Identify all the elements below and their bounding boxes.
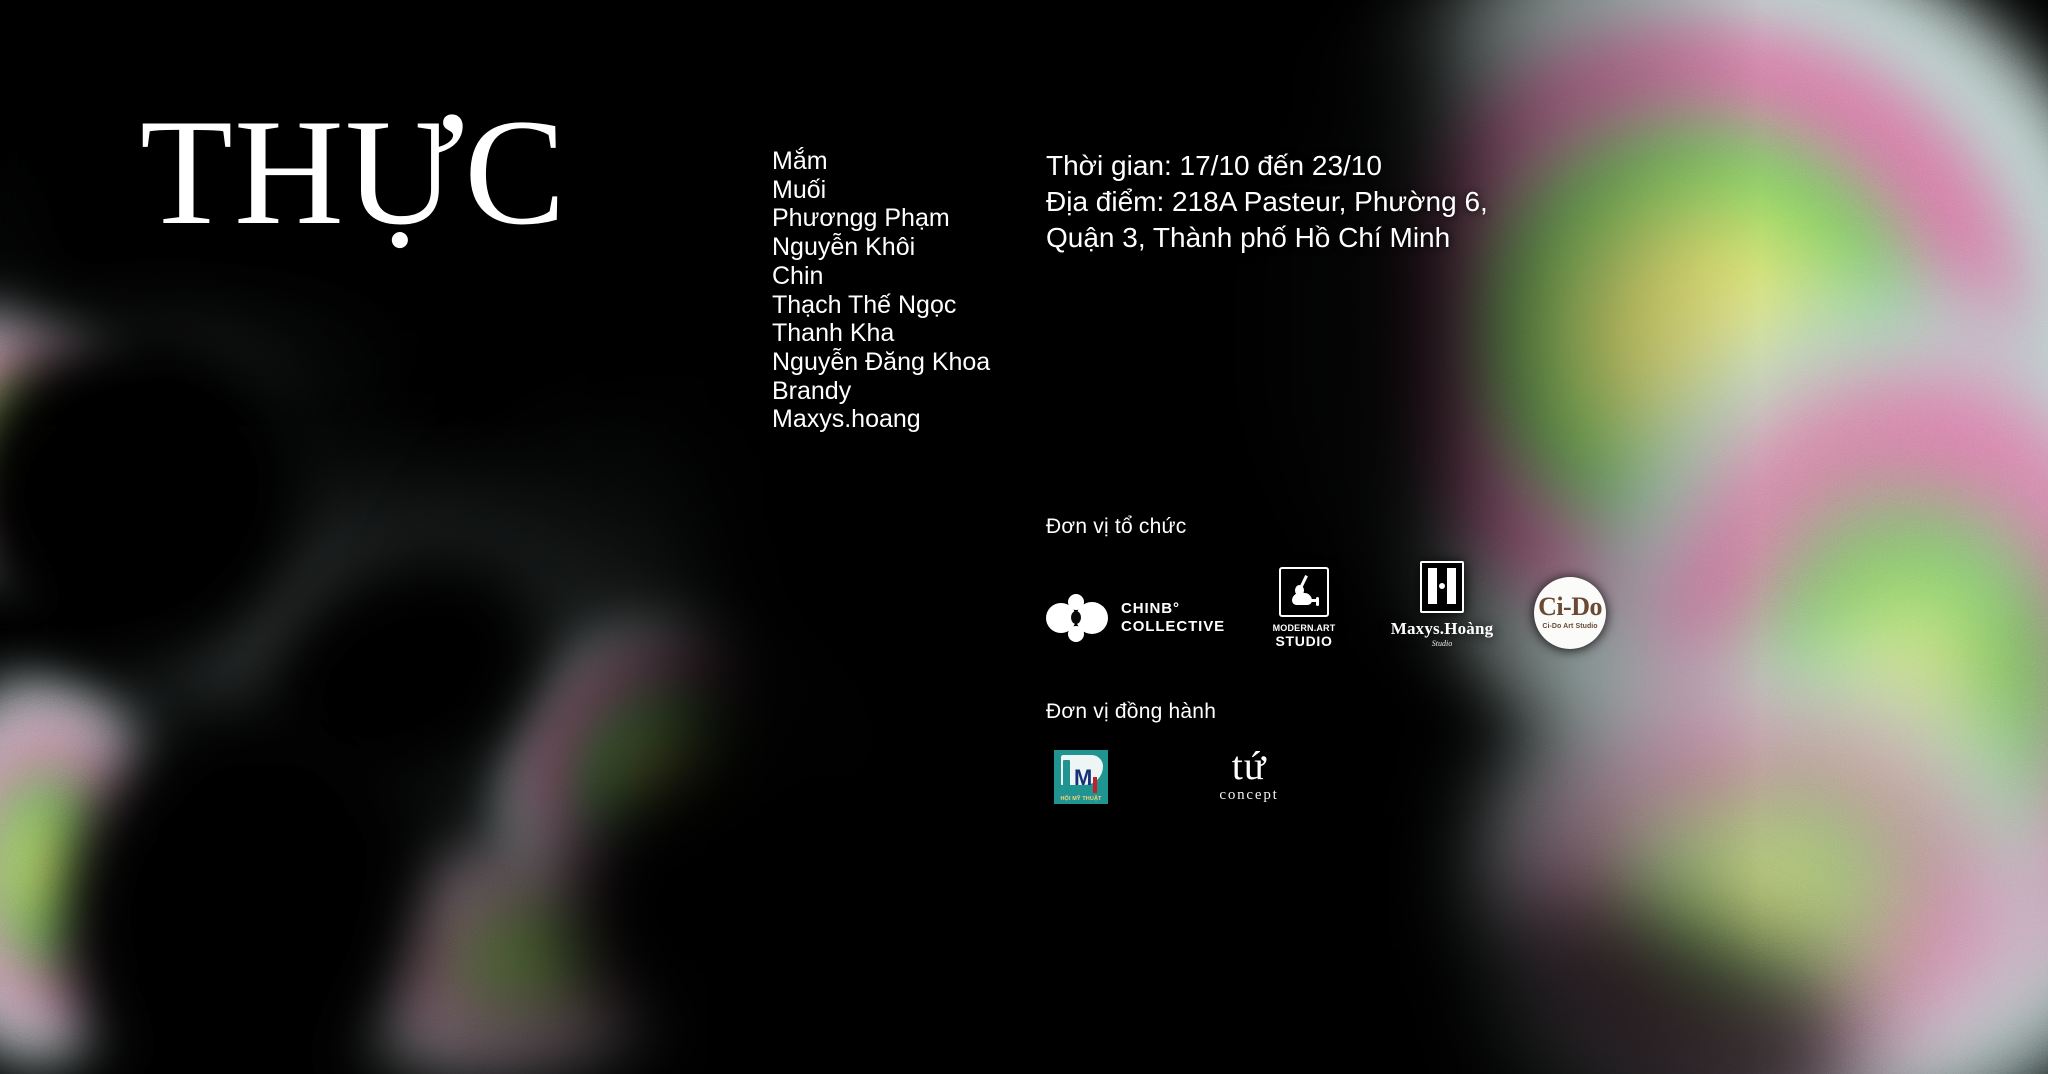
organizers-label: Đơn vị tổ chức [1046, 515, 1609, 539]
logo-chinb-collective[interactable]: CHINB° COLLECTIVE [1046, 587, 1225, 649]
cido-line-1: Ci-Do [1538, 594, 1602, 620]
organizers-section: Đơn vị tổ chức CHINB° COLLECTIVE [1046, 515, 1609, 649]
list-item: Mắm [772, 147, 990, 176]
page-title: THỰC [140, 96, 567, 248]
chinb-line-1: CHINB° [1121, 600, 1225, 618]
chinb-circles-icon [1046, 594, 1108, 642]
event-date-line: Thời gian: 17/10 đến 23/10 [1046, 148, 1488, 184]
exhibition-poster: THỰC Mắm Muối Phươngg Phạm Nguyễn Khôi C… [0, 0, 2048, 1074]
logo-tu-concept[interactable]: tứ concept [1194, 746, 1304, 804]
artist-list: Mắm Muối Phươngg Phạm Nguyễn Khôi Chin T… [772, 147, 990, 434]
chinb-line-2: COLLECTIVE [1121, 618, 1225, 636]
logo-ci-do-art-studio[interactable]: Ci-Do Ci-Do Art Studio [1531, 577, 1609, 649]
my-thuat-square-icon: HỘI MỸ THUẬT [1054, 750, 1108, 804]
maxys-monogram-icon [1420, 561, 1464, 613]
list-item: Muối [772, 176, 990, 205]
modern-art-line-2: STUDIO [1275, 634, 1332, 649]
maxys-line-2: Studio [1432, 638, 1452, 649]
tu-line-2: concept [1219, 786, 1278, 804]
logo-maxys-hoang[interactable]: Maxys.Hoàng Studio [1387, 561, 1497, 649]
cido-circle-icon: Ci-Do Ci-Do Art Studio [1534, 577, 1606, 649]
maxys-line-1: Maxys.Hoàng [1391, 620, 1493, 638]
event-venue-line-2: Quận 3, Thành phố Hồ Chí Minh [1046, 220, 1488, 256]
logo-modern-art-studio[interactable]: MODERN.ART STUDIO [1269, 567, 1339, 649]
list-item: Nguyễn Khôi [772, 233, 990, 262]
list-item: Brandy [772, 377, 990, 406]
list-item: Maxys.hoang [772, 405, 990, 434]
partners-section: Đơn vị đồng hành HỘI MỸ THUẬT tứ concept [1046, 700, 1304, 804]
cido-line-2: Ci-Do Art Studio [1542, 622, 1597, 632]
list-item: Nguyễn Đăng Khoa [772, 348, 990, 377]
poster-content: THỰC Mắm Muối Phươngg Phạm Nguyễn Khôi C… [0, 0, 2048, 1074]
partners-logo-row: HỘI MỸ THUẬT tứ concept [1046, 746, 1304, 804]
list-item: Thạch Thế Ngọc [772, 291, 990, 320]
chinb-wordmark: CHINB° COLLECTIVE [1121, 600, 1225, 636]
tu-line-1: tứ [1232, 746, 1266, 786]
organizers-logo-row: CHINB° COLLECTIVE MODERN.ART STUDIO [1046, 561, 1609, 649]
event-details: Thời gian: 17/10 đến 23/10 Địa điểm: 218… [1046, 148, 1488, 256]
partners-label: Đơn vị đồng hành [1046, 700, 1304, 724]
list-item: Phươngg Phạm [772, 204, 990, 233]
event-venue-line-1: Địa điểm: 218A Pasteur, Phường 6, [1046, 184, 1488, 220]
modern-art-figure-icon [1279, 567, 1329, 617]
logo-hoi-my-thuat[interactable]: HỘI MỸ THUẬT [1046, 750, 1116, 804]
list-item: Chin [772, 262, 990, 291]
my-thuat-caption: HỘI MỸ THUẬT [1054, 795, 1108, 804]
list-item: Thanh Kha [772, 319, 990, 348]
